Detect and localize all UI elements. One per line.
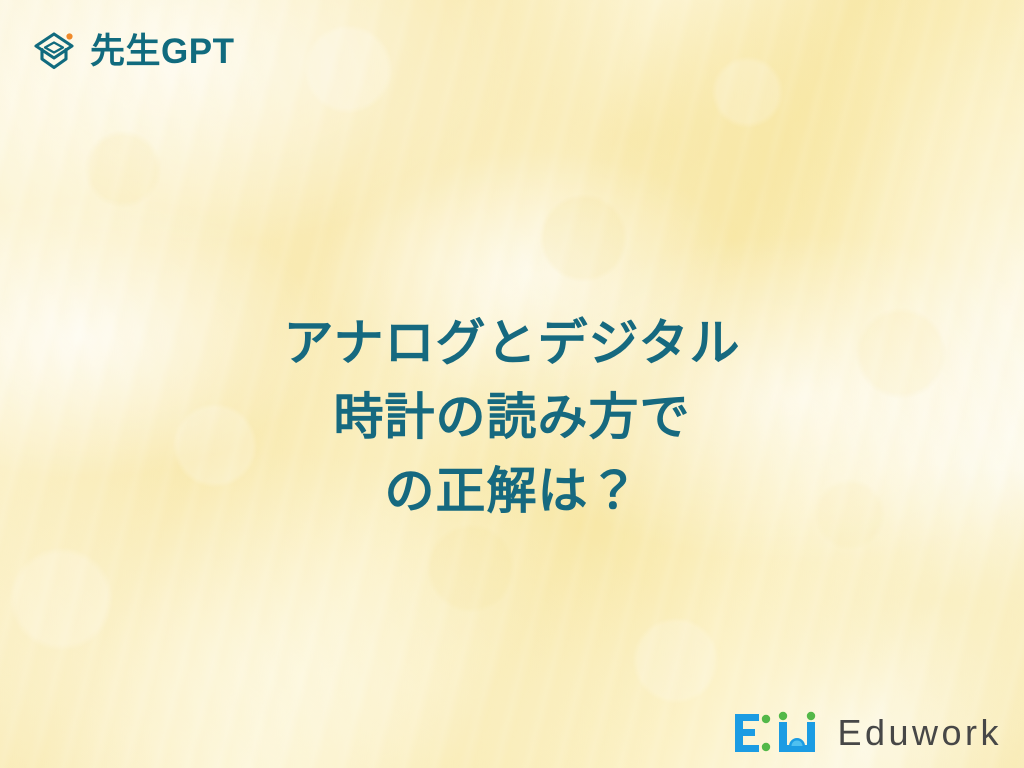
- graduation-cap-icon: [30, 27, 78, 75]
- slide-canvas: 先生GPT アナログとデジタル 時計の読み方で の正解は？: [0, 0, 1024, 768]
- brand-lockup-sensei-gpt: 先生GPT: [30, 27, 234, 75]
- title-line-1: アナログとデジタル: [0, 306, 1024, 380]
- brand-name-eduwork: Eduwork: [837, 715, 1002, 751]
- title-line-2: 時計の読み方で: [0, 380, 1024, 454]
- title-line-3: の正解は？: [0, 454, 1024, 528]
- eduwork-logo-icon: [733, 710, 821, 756]
- brand-lockup-eduwork: Eduwork: [733, 710, 1002, 756]
- page-title: アナログとデジタル 時計の読み方で の正解は？: [0, 306, 1024, 528]
- brand-name-sensei-gpt: 先生GPT: [90, 34, 234, 69]
